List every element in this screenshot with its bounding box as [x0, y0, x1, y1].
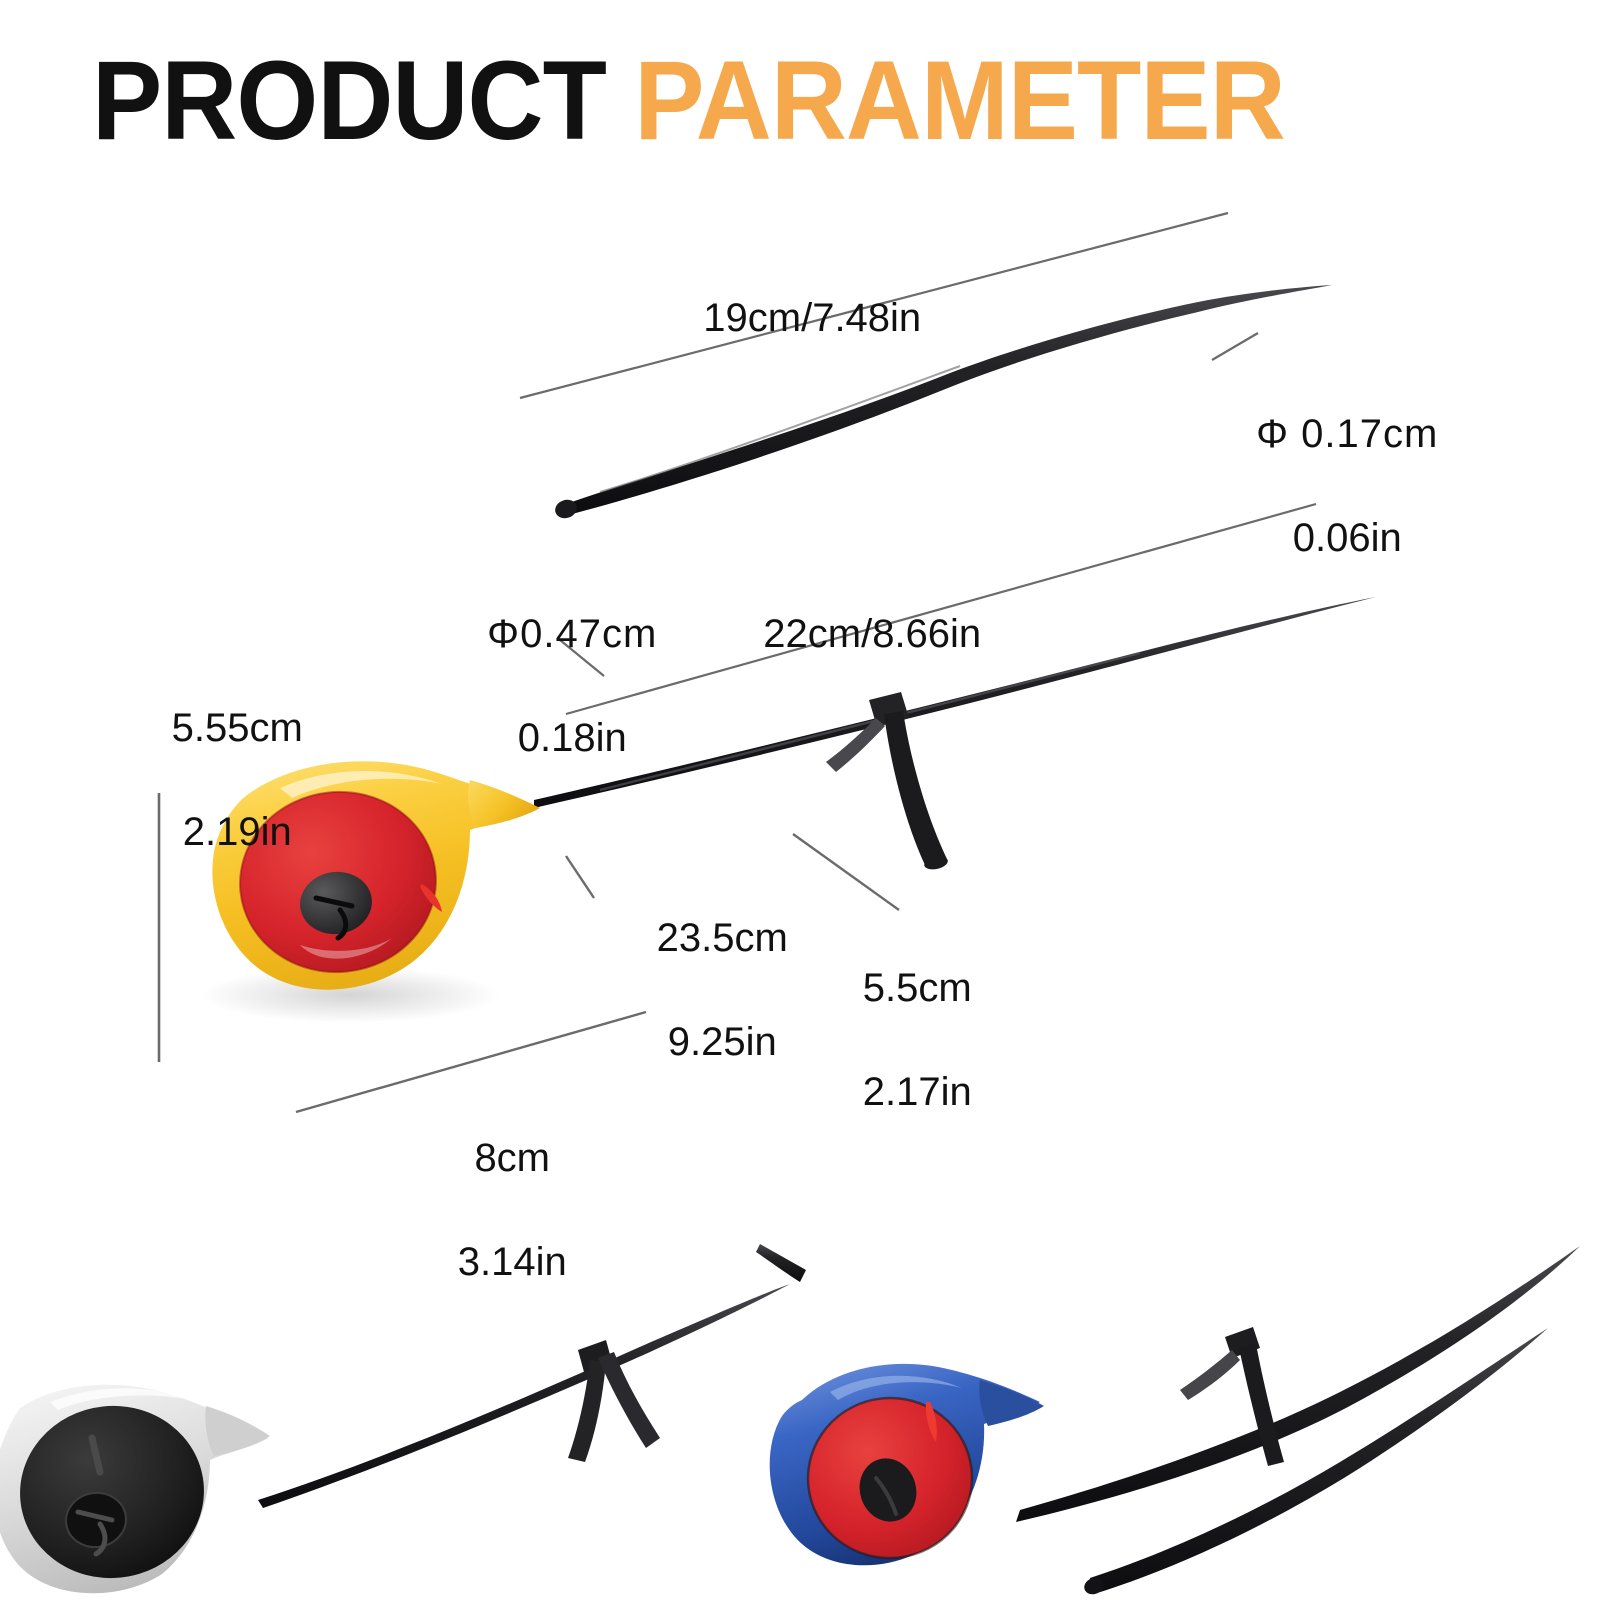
hook-keeper-blue-rod — [1180, 1327, 1284, 1466]
hook-keeper-assembly — [826, 692, 949, 871]
page-title: PRODUCT PARAMETER — [92, 42, 1285, 160]
title-word-product: PRODUCT — [92, 38, 606, 163]
reel-shadow — [200, 967, 500, 1023]
reel-trigger-blue — [926, 1402, 937, 1442]
reel-body-white — [0, 1385, 270, 1594]
reel-spool-black — [12, 1397, 213, 1587]
blue-rod-assembly — [756, 1244, 1580, 1597]
dimension-label-hook-keeper-height: 5.5cm 2.17in — [800, 910, 990, 1170]
title-word-parameter: PARAMETER — [634, 38, 1285, 163]
dimension-label-rod-tip-length: 19cm/7.48in — [620, 240, 960, 396]
reel-trigger — [420, 884, 442, 912]
reel-spool-red-blue — [800, 1390, 980, 1566]
hook-keeper-white-rod — [568, 1340, 660, 1462]
dimension-label-upper-rod-length: 22cm/8.66in — [700, 556, 1000, 712]
product-parameter-infographic: PRODUCT PARAMETER — [0, 0, 1600, 1600]
reel-body-blue — [770, 1364, 1044, 1566]
dimension-label-reel-height: 5.55cm 2.19in — [95, 650, 335, 910]
dimension-label-rod-tip-diameter: Φ 0.17cm 0.06in — [1200, 356, 1450, 616]
dimension-label-rod-diameter: Φ0.47cm 0.18in — [420, 556, 680, 816]
dimension-label-rod-total-length: 23.5cm 9.25in — [590, 860, 810, 1120]
dimension-label-reel-length: 8cm 3.14in — [380, 1080, 600, 1340]
